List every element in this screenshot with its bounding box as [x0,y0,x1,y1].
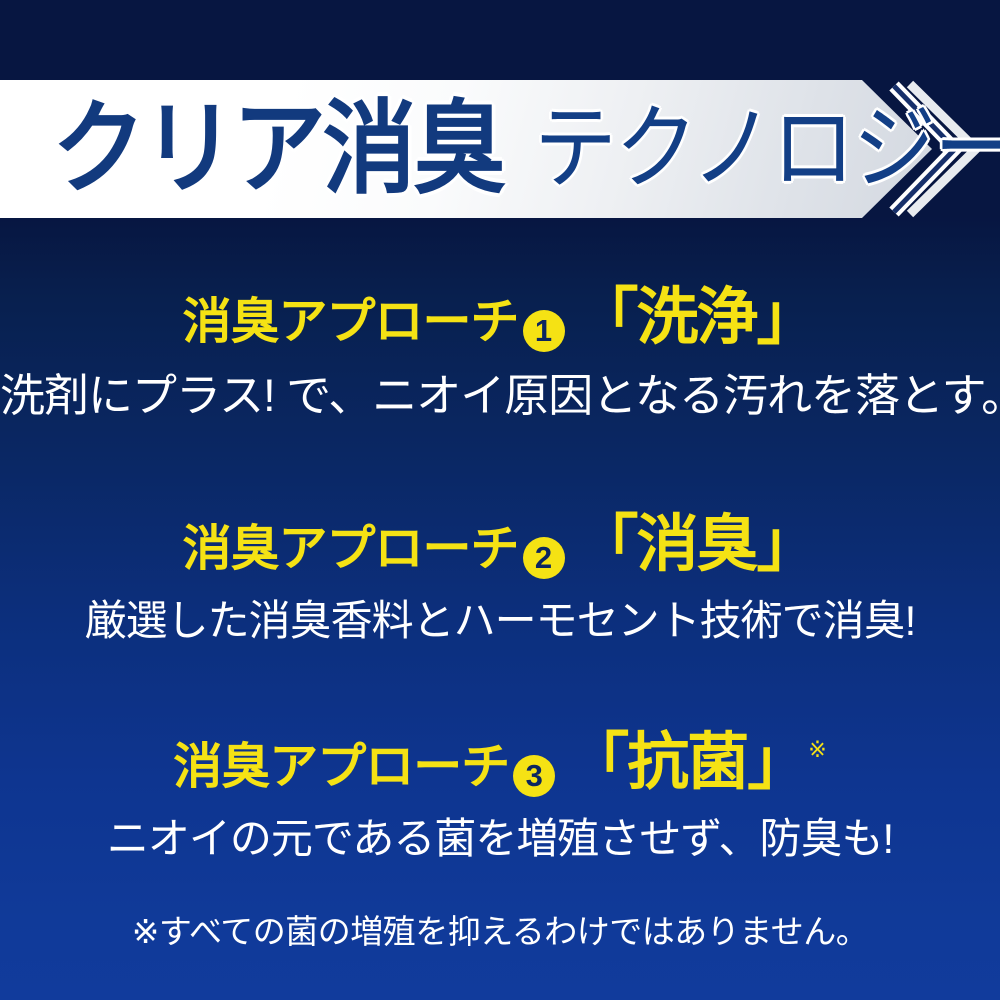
approach-body-3: ニオイの元である菌を増殖させず、防臭も! [0,813,1000,866]
approach-heading-3: 消臭アプローチ3「抗菌」※ [0,730,1000,797]
approach-note-mark-3: ※ [808,737,826,762]
approach-heading-2: 消臭アプローチ2「消臭」 [0,512,1000,579]
promo-graphic-root: クリア消臭 テクノロジー 消臭アプローチ1「洗浄」 洗剤にプラス! で、ニオイ原… [0,0,1000,1000]
approach-label-1: 消臭アプローチ [182,295,518,349]
approach-block-2: 消臭アプローチ2「消臭」 厳選した消臭香料とハーモセント技術で消臭! [0,512,1000,648]
approach-heading-1: 消臭アプローチ1「洗浄」 [0,285,1000,352]
banner-title: クリア消臭 テクノロジー [0,80,862,218]
approach-number-badge-3: 3 [513,755,555,797]
approach-quoted-3: 「抗菌」 [567,728,807,797]
approach-number-badge-2: 2 [523,537,565,579]
approach-quoted-1: 「洗浄」 [577,283,817,352]
banner-title-light: テクノロジー [534,103,1000,195]
approach-number-badge-1: 1 [523,310,565,352]
approach-quoted-2: 「消臭」 [577,510,817,579]
header-banner: クリア消臭 テクノロジー [0,80,1000,218]
approach-label-2: 消臭アプローチ [182,522,518,576]
approach-body-1: 洗剤にプラス! で、ニオイ原因となる汚れを落とす。 [0,368,1000,424]
approach-body-2: 厳選した消臭香料とハーモセント技術で消臭! [0,595,1000,648]
approach-label-3: 消臭アプローチ [173,740,509,794]
footnote-disclaimer: ※すべての菌の増殖を抑えるわけではありません。 [0,905,1000,953]
approach-block-1: 消臭アプローチ1「洗浄」 洗剤にプラス! で、ニオイ原因となる汚れを落とす。 [0,285,1000,424]
banner-title-strong: クリア消臭 [52,98,503,200]
approach-block-3: 消臭アプローチ3「抗菌」※ ニオイの元である菌を増殖させず、防臭も! [0,730,1000,866]
